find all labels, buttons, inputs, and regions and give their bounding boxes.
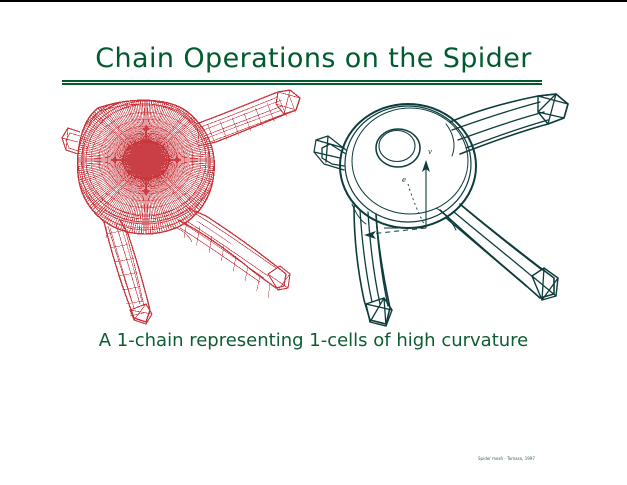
curve-tick-label: e	[402, 176, 406, 184]
spider-outline-figure: v e	[300, 88, 580, 328]
spider-outline-svg: v e	[300, 88, 580, 328]
footer-block: Spider mesh - Tomaso, 1997	[478, 445, 598, 464]
figure-caption: A 1-chain representing 1-cells of high c…	[99, 330, 529, 351]
dotted-tick-curve	[408, 184, 424, 224]
vertical-arrow-label: v	[428, 148, 432, 156]
spider-mesh-svg	[38, 88, 313, 328]
spider-mesh-figure	[38, 88, 313, 328]
title-block: Chain Operations on the Spider	[0, 42, 627, 76]
slide-canvas: Chain Operations on the Spider	[0, 0, 627, 485]
caption-block: A 1-chain representing 1-cells of high c…	[0, 329, 627, 353]
title-underline-rule	[62, 80, 542, 85]
dashed-leader-line	[370, 228, 426, 234]
figure-row: v e	[0, 88, 627, 328]
footer-attribution: Spider mesh - Tomaso, 1997	[478, 456, 535, 461]
page-title: Chain Operations on the Spider	[0, 42, 627, 76]
